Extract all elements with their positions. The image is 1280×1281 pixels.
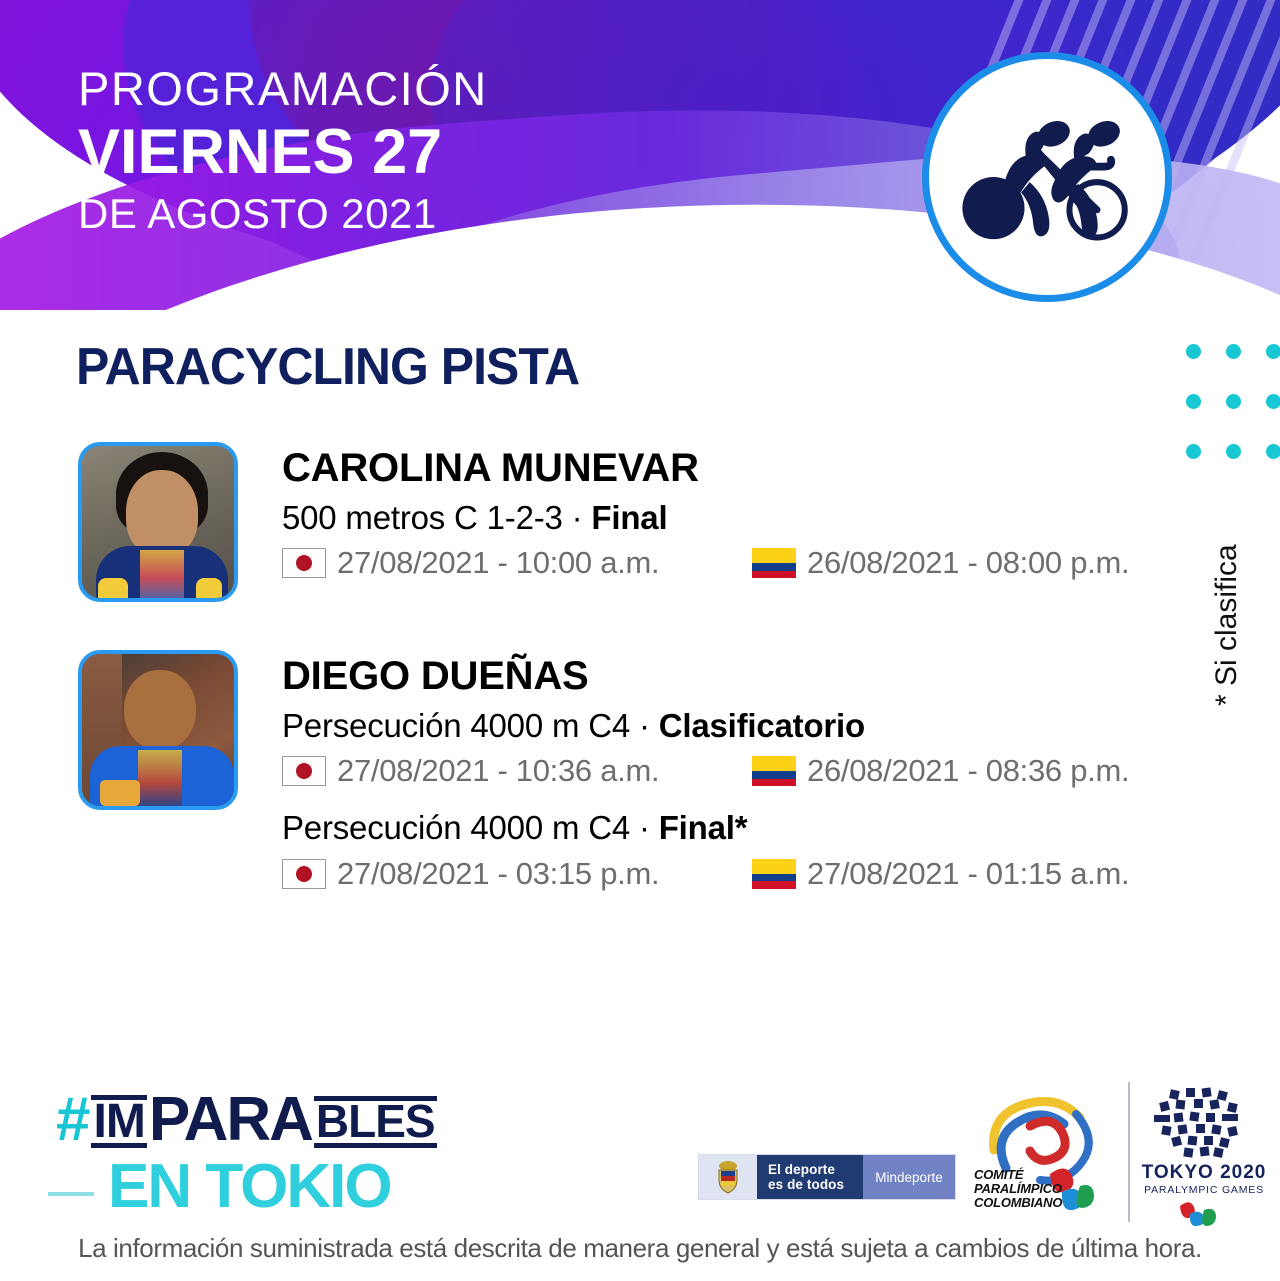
footer-divider — [1128, 1082, 1130, 1222]
time-slot-colombia: 27/08/2021 - 01:15 a.m. — [752, 856, 1129, 892]
athlete-details: CAROLINA MUNEVAR 500 metros C 1-2-3 · Fi… — [282, 448, 1129, 581]
colombia-datetime: 26/08/2021 - 08:00 p.m. — [807, 545, 1129, 581]
cpc-line1: COMITÉ — [974, 1168, 1062, 1182]
event-phase: Final — [591, 499, 667, 536]
athlete-details: DIEGO DUEÑAS Persecución 4000 m C4 · Cla… — [282, 656, 1129, 892]
colombia-datetime: 26/08/2021 - 08:36 p.m. — [807, 753, 1129, 789]
event-description: Persecución 4000 m C4 · — [282, 707, 659, 744]
imparables-line2: EN TOKIO — [108, 1156, 437, 1218]
tokyo-name: TOKYO 2020 — [1140, 1162, 1268, 1184]
athlete-name: DIEGO DUEÑAS — [282, 656, 1129, 696]
event-line: 500 metros C 1-2-3 · Final — [282, 497, 1129, 538]
si-clasifica-note: * Si clasifica — [1210, 544, 1244, 706]
japan-flag-icon — [282, 859, 326, 889]
event-description: 500 metros C 1-2-3 · — [282, 499, 591, 536]
programacion-card: PROGRAMACIÓN VIERNES 27 DE AGOSTO 2021 — [0, 0, 1280, 1281]
colombia-flag-icon — [752, 756, 796, 786]
time-slot-japan: 27/08/2021 - 10:36 a.m. — [282, 753, 752, 789]
cpc-line2: PARALÍMPICO — [974, 1182, 1062, 1196]
event-line: Persecución 4000 m C4 · Clasificatorio — [282, 705, 1129, 746]
sport-title: PARACYCLING PISTA — [76, 337, 579, 397]
athlete-name: CAROLINA MUNEVAR — [282, 448, 1129, 488]
slogan-line2: es de todos — [768, 1177, 844, 1192]
japan-datetime: 27/08/2021 - 10:36 a.m. — [337, 753, 659, 789]
colombia-flag-icon — [752, 548, 796, 578]
tokyo2020-logo: TOKYO 2020 PARALYMPIC GAMES — [1140, 1086, 1268, 1228]
athlete-photo — [78, 442, 238, 602]
hashtag-icon: # — [56, 1092, 88, 1148]
event-description: Persecución 4000 m C4 · — [282, 809, 659, 846]
athlete-entry — [78, 442, 238, 602]
japan-datetime: 27/08/2021 - 10:00 a.m. — [337, 545, 659, 581]
event-phase: Final* — [659, 809, 748, 846]
japan-flag-icon — [282, 548, 326, 578]
header-subtitle: DE AGOSTO 2021 — [78, 191, 488, 237]
agitos-icon — [1176, 1200, 1232, 1226]
colombia-flag-icon — [752, 859, 796, 889]
japan-flag-icon — [282, 756, 326, 786]
event-times: 27/08/2021 - 03:15 p.m. 27/08/2021 - 01:… — [282, 856, 1129, 892]
colombia-coat-of-arms-icon — [699, 1155, 757, 1199]
imparables-part-im: IM — [91, 1095, 146, 1148]
header-title: VIERNES 27 — [78, 117, 488, 188]
japan-datetime: 27/08/2021 - 03:15 p.m. — [337, 856, 659, 892]
header-banner: PROGRAMACIÓN VIERNES 27 DE AGOSTO 2021 — [0, 0, 1280, 310]
time-slot-colombia: 26/08/2021 - 08:00 p.m. — [752, 545, 1129, 581]
time-slot-colombia: 26/08/2021 - 08:36 p.m. — [752, 753, 1129, 789]
header-title-block: PROGRAMACIÓN VIERNES 27 DE AGOSTO 2021 — [78, 64, 488, 237]
mindeporte-logo: El deportees de todos Mindeporte — [698, 1154, 956, 1200]
event-times: 27/08/2021 - 10:36 a.m. 26/08/2021 - 08:… — [282, 753, 1129, 789]
imparables-part-bles: BLES — [314, 1096, 437, 1147]
cpc-label: COMITÉ PARALÍMPICO COLOMBIANO — [974, 1168, 1062, 1210]
cyan-dash-decoration — [48, 1192, 94, 1196]
event-times: 27/08/2021 - 10:00 a.m. 26/08/2021 - 08:… — [282, 545, 1129, 581]
cpc-line3: COLOMBIANO — [974, 1196, 1062, 1210]
header-kicker: PROGRAMACIÓN — [78, 64, 488, 115]
time-slot-japan: 27/08/2021 - 10:00 a.m. — [282, 545, 752, 581]
imparables-logo: # IM PARA BLES EN TOKIO — [56, 1092, 437, 1218]
colombia-datetime: 27/08/2021 - 01:15 a.m. — [807, 856, 1129, 892]
time-slot-japan: 27/08/2021 - 03:15 p.m. — [282, 856, 752, 892]
mindeporte-slogan: El deportees de todos — [757, 1155, 863, 1199]
athlete-entry — [78, 650, 238, 810]
tokyo2020-emblem-icon — [1140, 1086, 1268, 1162]
mindeporte-label: Mindeporte — [863, 1155, 955, 1199]
imparables-part-para: PARA — [149, 1092, 312, 1148]
slogan-line1: El deporte — [768, 1162, 835, 1177]
event-line: Persecución 4000 m C4 · Final* — [282, 807, 1129, 848]
comite-paralimpico-colombiano-logo: COMITÉ PARALÍMPICO COLOMBIANO — [972, 1084, 1102, 1216]
disclaimer-text: La información suministrada está descrit… — [0, 1233, 1280, 1264]
paracycling-tandem-icon — [922, 52, 1172, 302]
athlete-photo — [78, 650, 238, 810]
tokyo-subtitle: PARALYMPIC GAMES — [1140, 1184, 1268, 1196]
dot-grid-decoration — [1186, 344, 1280, 470]
event-phase: Clasificatorio — [659, 707, 865, 744]
